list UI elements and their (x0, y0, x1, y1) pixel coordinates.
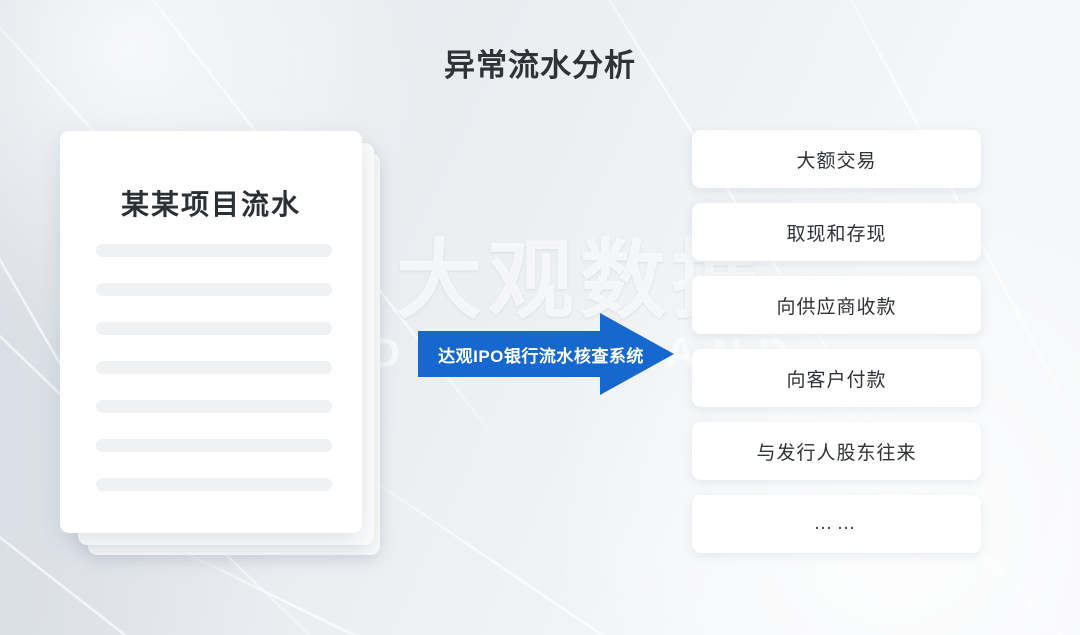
category-list: 大额交易 取现和存现 向供应商收款 向客户付款 与发行人股东往来 …… (692, 130, 981, 568)
category-card-6-more[interactable]: …… (692, 495, 981, 553)
category-card-3[interactable]: 向供应商收款 (692, 276, 981, 334)
category-label: …… (814, 513, 860, 535)
category-card-4[interactable]: 向客户付款 (692, 349, 981, 407)
document-placeholder-line (96, 283, 332, 296)
document-placeholder-lines (96, 244, 332, 517)
document-placeholder-line (96, 244, 332, 257)
category-label: 大额交易 (796, 146, 876, 173)
document-placeholder-line (96, 322, 332, 335)
document-placeholder-line (96, 400, 332, 413)
category-label: 与发行人股东往来 (756, 438, 916, 465)
category-label: 取现和存现 (786, 219, 886, 246)
document-placeholder-line (96, 478, 332, 491)
process-arrow: 达观IPO银行流水核查系统 (418, 310, 676, 398)
category-card-2[interactable]: 取现和存现 (692, 203, 981, 261)
category-card-5[interactable]: 与发行人股东往来 (692, 422, 981, 480)
category-card-1[interactable]: 大额交易 (692, 130, 981, 188)
page-title: 异常流水分析 (0, 40, 1080, 85)
document-page-front: 某某项目流水 (60, 131, 362, 533)
document-stack: 某某项目流水 (60, 131, 400, 561)
arrow-right-icon (418, 310, 676, 398)
category-label: 向供应商收款 (776, 292, 896, 319)
document-placeholder-line (96, 361, 332, 374)
slide-canvas: 大观数据 DATA GRAND 异常流水分析 某某项目流水 达观IPO银行流水核… (0, 0, 1080, 635)
category-label: 向客户付款 (786, 365, 886, 392)
document-placeholder-line (96, 439, 332, 452)
document-title: 某某项目流水 (60, 183, 362, 223)
